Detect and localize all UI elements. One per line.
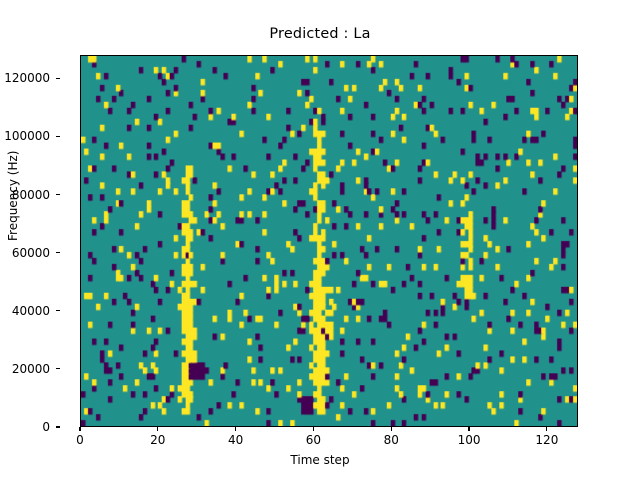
y-tick-mark: [56, 368, 60, 369]
x-tick-label: 120: [535, 433, 558, 447]
chart-title: Predicted : La: [0, 26, 640, 42]
x-axis-label: Time step: [0, 453, 640, 467]
heatmap-axes: [80, 55, 578, 427]
y-tick-label: 80000: [12, 188, 50, 202]
x-tick-mark: [546, 427, 547, 431]
x-tick-mark: [313, 427, 314, 431]
y-tick-mark: [56, 426, 60, 427]
x-tick-label: 0: [76, 433, 84, 447]
x-tick-label: 20: [150, 433, 165, 447]
x-tick-mark: [468, 427, 469, 431]
x-tick-mark: [235, 427, 236, 431]
x-tick-label: 100: [458, 433, 481, 447]
x-tick-mark: [79, 427, 80, 431]
y-tick-mark: [56, 136, 60, 137]
y-tick-label: 100000: [4, 129, 50, 143]
y-tick-label: 0: [42, 420, 50, 434]
x-tick-mark: [157, 427, 158, 431]
y-tick-mark: [56, 194, 60, 195]
y-tick-label: 20000: [12, 362, 50, 376]
x-tick-label: 40: [228, 433, 243, 447]
x-tick-label: 60: [306, 433, 321, 447]
y-tick-label: 60000: [12, 246, 50, 260]
y-tick-mark: [56, 310, 60, 311]
y-tick-mark: [56, 252, 60, 253]
y-tick-label: 120000: [4, 71, 50, 85]
spectrogram-heatmap: [81, 56, 577, 426]
x-tick-mark: [391, 427, 392, 431]
y-tick-mark: [56, 78, 60, 79]
matplotlib-figure: Predicted : La Frequency (Hz) 0200004000…: [0, 0, 640, 480]
y-tick-label: 40000: [12, 304, 50, 318]
x-tick-label: 80: [384, 433, 399, 447]
